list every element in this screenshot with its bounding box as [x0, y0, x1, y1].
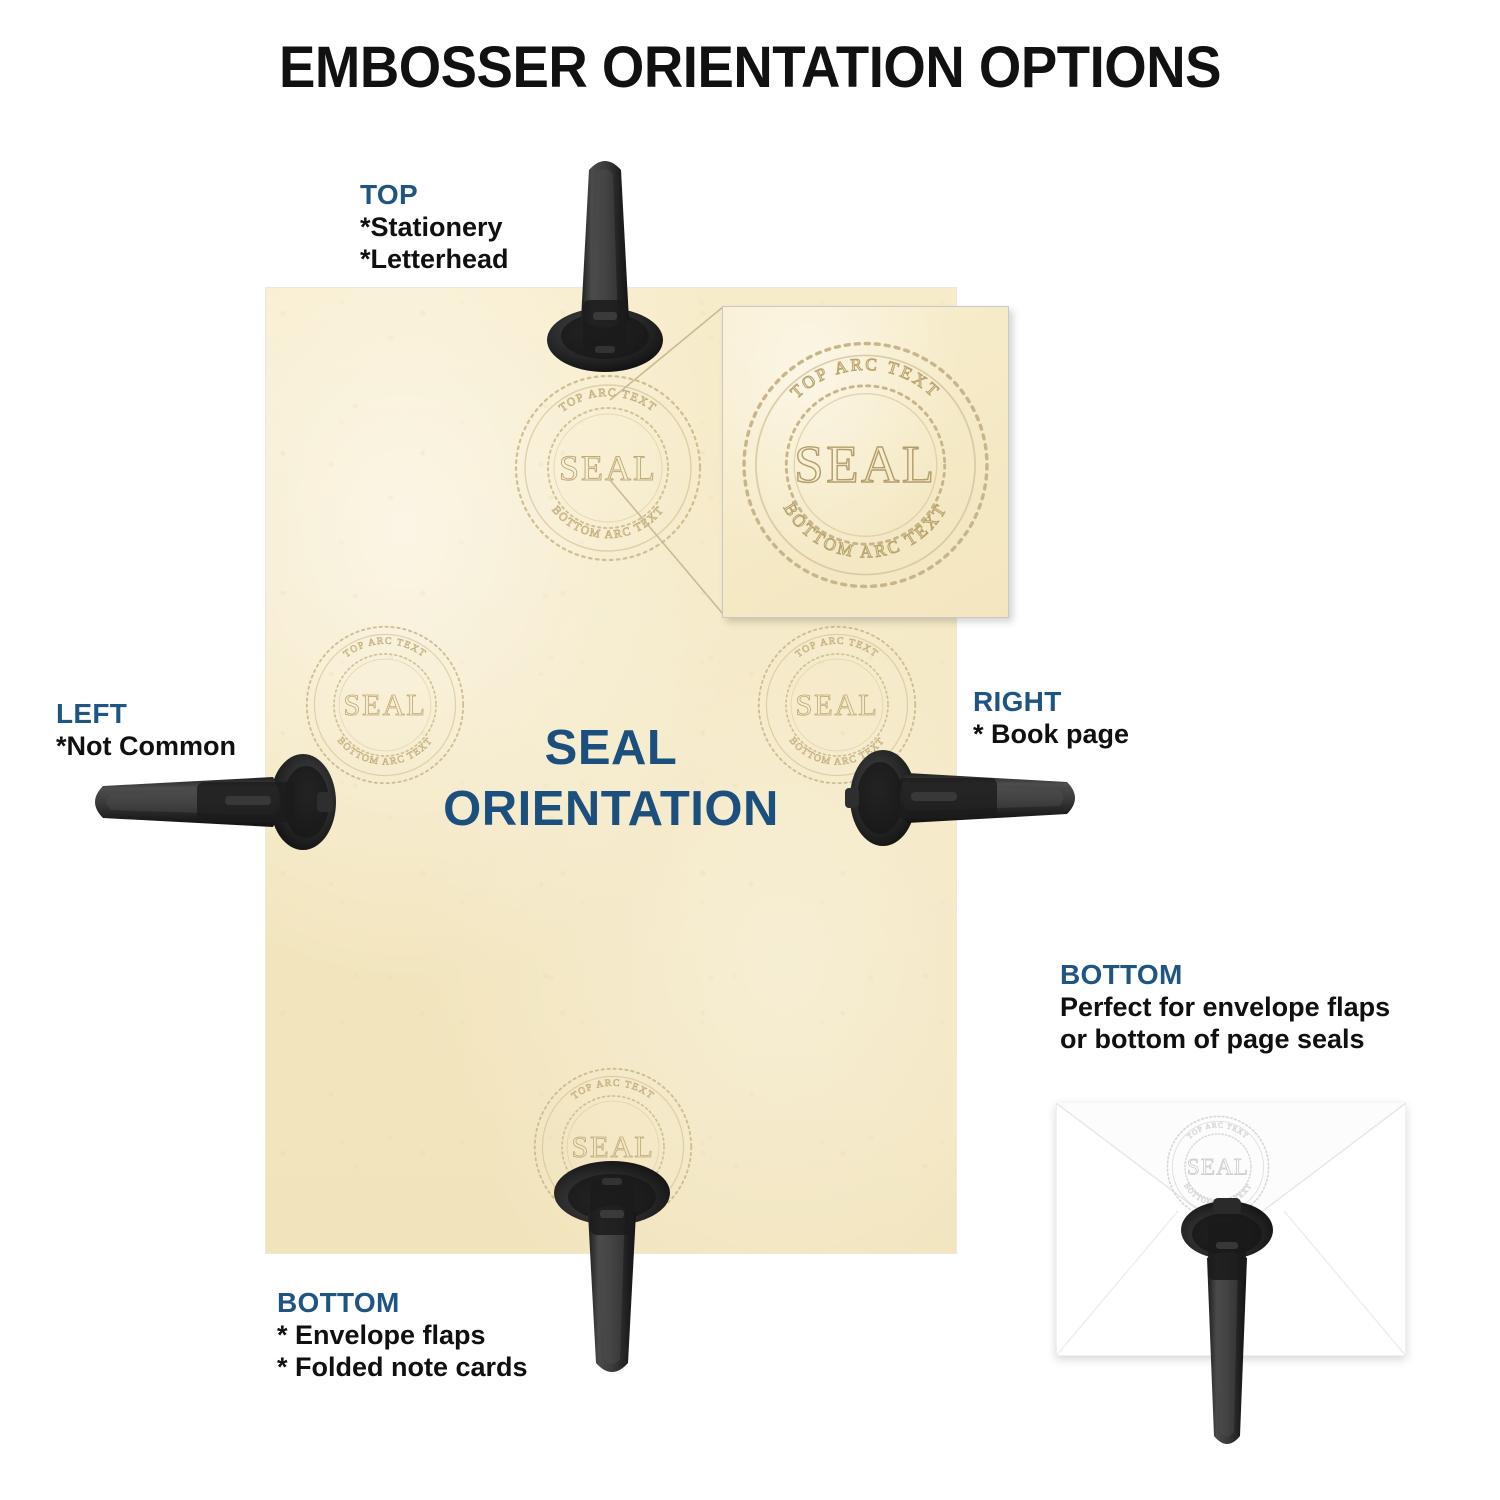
embosser-right[interactable]	[845, 748, 1085, 848]
callout-seal-center-text: SEAL	[794, 436, 937, 494]
svg-text:TOP ARC TEXT: TOP ARC TEXT	[794, 636, 881, 660]
caption-right-heading: RIGHT	[973, 685, 1129, 718]
svg-text:TOP ARC TEXT: TOP ARC TEXT	[570, 1078, 657, 1102]
caption-bottom-right-line-2: or bottom of page seals	[1060, 1023, 1390, 1055]
caption-top-line-2: *Letterhead	[360, 243, 509, 275]
svg-text:BOTTOM ARC TEXT: BOTTOM ARC TEXT	[780, 499, 952, 561]
caption-top: TOP *Stationery *Letterhead	[360, 178, 509, 276]
seal-impression-top: TOP ARC TEXT BOTTOM ARC TEXT SEAL	[508, 368, 708, 568]
caption-right-line-1: * Book page	[973, 718, 1129, 750]
caption-left: LEFT *Not Common	[56, 697, 236, 762]
caption-bottom-left-line-2: * Folded note cards	[277, 1351, 528, 1383]
seal-top-arc-text: TOP ARC TEXT	[794, 636, 881, 660]
page-title: EMBOSSER ORIENTATION OPTIONS	[45, 34, 1455, 101]
callout-seal-top-arc-text: TOP ARC TEXT	[787, 355, 944, 402]
caption-left-line-1: *Not Common	[56, 730, 236, 762]
caption-bottom-left-line-1: * Envelope flaps	[277, 1319, 528, 1351]
svg-text:TOP ARC TEXT: TOP ARC TEXT	[342, 636, 429, 660]
caption-top-line-1: *Stationery	[360, 211, 509, 243]
embosser-bottom[interactable]	[552, 1148, 672, 1383]
magnified-seal-callout: TOP ARC TEXT BOTTOM ARC TEXT SEAL	[722, 306, 1009, 618]
svg-text:TOP ARC TEXT: TOP ARC TEXT	[787, 355, 944, 402]
caption-bottom-right-heading: BOTTOM	[1060, 958, 1390, 991]
caption-right: RIGHT * Book page	[973, 685, 1129, 750]
callout-seal-bottom-arc-text: BOTTOM ARC TEXT	[780, 499, 952, 561]
envelope-seal-top-arc-text: TOP ARC TEXT	[1186, 1121, 1250, 1140]
caption-bottom-left-heading: BOTTOM	[277, 1286, 528, 1319]
seal-top-arc-text: TOP ARC TEXT	[570, 1078, 657, 1102]
infographic-canvas: EMBOSSER ORIENTATION OPTIONS TOP ARC TEX…	[0, 0, 1500, 1500]
seal-center-text: SEAL	[559, 448, 657, 488]
seal-top-arc-text: TOP ARC TEXT	[342, 636, 429, 660]
embosser-envelope[interactable]	[1180, 1188, 1275, 1453]
caption-left-heading: LEFT	[56, 697, 236, 730]
envelope-seal-center-text: SEAL	[1187, 1154, 1249, 1180]
seal-bottom-arc-text: BOTTOM ARC TEXT	[549, 504, 666, 541]
embosser-left[interactable]	[85, 752, 350, 852]
svg-text:TOP ARC TEXT: TOP ARC TEXT	[1186, 1121, 1250, 1140]
caption-bottom-right-line-1: Perfect for envelope flaps	[1060, 991, 1390, 1023]
caption-bottom-left: BOTTOM * Envelope flaps * Folded note ca…	[277, 1286, 528, 1384]
caption-top-heading: TOP	[360, 178, 509, 211]
svg-text:BOTTOM ARC TEXT: BOTTOM ARC TEXT	[549, 504, 666, 541]
seal-top-arc-text: TOP ARC TEXT	[557, 387, 659, 415]
embosser-top[interactable]	[545, 150, 665, 375]
caption-bottom-right: BOTTOM Perfect for envelope flaps or bot…	[1060, 958, 1390, 1056]
svg-text:TOP ARC TEXT: TOP ARC TEXT	[557, 387, 659, 415]
